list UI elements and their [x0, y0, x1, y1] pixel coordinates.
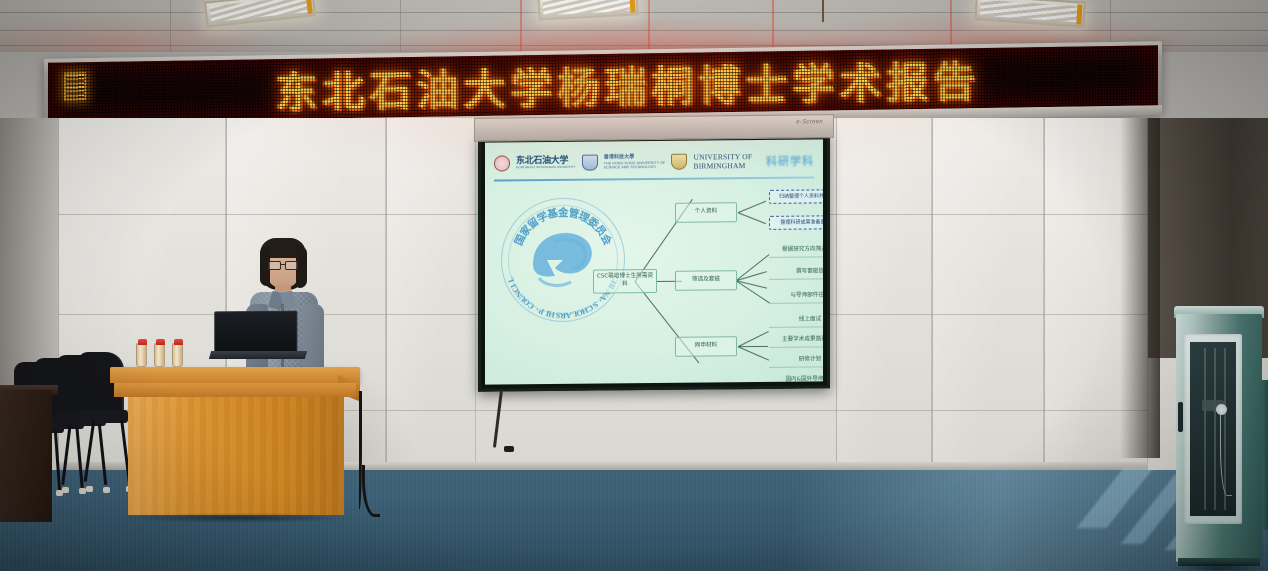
csc-arc-text-en: CHINA·SCHOLARSHIP·COUNCIL [501, 197, 625, 322]
cabinet-right-edge [1262, 380, 1268, 530]
csc-arc-char-en: R [560, 311, 566, 320]
hkust-logo-sub-2: SCIENCE AND TECHNOLOGY [604, 165, 666, 170]
laptop-keyboard-base[interactable] [209, 351, 307, 359]
cabinet-door-handle[interactable] [1178, 402, 1183, 432]
podium-body [128, 397, 344, 515]
mindmap-leaf-node: 与导师邮件往来 [769, 289, 823, 304]
podium-top-surface [110, 367, 360, 383]
northeast-petroleum-university-crest-icon [494, 155, 510, 171]
side-table [0, 390, 52, 522]
mindmap-leaf-node: 归纳整理个人资料并制作CV [769, 189, 823, 204]
ceiling-light-fixture [204, 0, 316, 28]
csc-arc-char-en: A [565, 310, 572, 320]
mindmap-branch-node: 网申材料 [675, 336, 737, 357]
screen-cable-plug [504, 446, 514, 452]
mindmap-branch-node: 筛选及套磁 [675, 270, 737, 291]
lecture-hall-photo: 东北石油大学杨瑞桐博士学术报告 e-Screen 东北石油大学 NORTHEAS… [0, 0, 1268, 571]
mindmap-branch-node: 个人资料 [675, 202, 737, 223]
birmingham-coat-of-arms-icon [671, 154, 687, 170]
projected-slide: 东北石油大学 NORTHEAST PETROLEUM UNIVERSITY 香港… [485, 139, 823, 384]
birmingham-logo-line2: BIRMINGHAM [693, 161, 752, 171]
mindmap-leaf-node: 撰写套磁信 [769, 265, 823, 280]
mindmap-leaf-node: 研修计划 [769, 353, 823, 368]
mindmap-leaf-node: 主要学术成果简要介绍 [769, 333, 823, 348]
ceiling-light-fixture [974, 0, 1086, 28]
csc-arc-char-en: S [555, 310, 561, 319]
ceiling-hanging-wire [822, 0, 824, 22]
hkust-shield-icon [582, 155, 598, 171]
wall-corner-shadow [1120, 118, 1160, 458]
mindmap-leaf-node: 线上面试 [769, 313, 823, 328]
laptop-screen[interactable] [214, 311, 297, 354]
glasses-left-lens-icon [268, 261, 281, 270]
cabinet-inner-wire [1220, 414, 1232, 496]
slide-header: 东北石油大学 NORTHEAST PETROLEUM UNIVERSITY 香港… [494, 145, 814, 178]
mindmap-root-node: CSC联培博士生所需资料 [593, 269, 657, 294]
water-bottle[interactable] [154, 343, 165, 367]
podium-floor-shadow [124, 513, 352, 523]
podium-front-lip [114, 383, 356, 397]
mindmap-leaf-node: 国内&国外导师签字 [769, 373, 823, 385]
water-bottle[interactable] [172, 343, 183, 367]
glasses-right-lens-icon [285, 261, 298, 270]
projection-screen: 东北石油大学 NORTHEAST PETROLEUM UNIVERSITY 香港… [478, 132, 830, 391]
water-bottle[interactable] [136, 343, 147, 367]
ceiling-light-fixture [537, 0, 638, 21]
cabinet-glass-window [1190, 342, 1236, 516]
screen-brand-label: e-Screen [796, 119, 823, 125]
cabinet-floor-shadow [1172, 562, 1268, 571]
cabinet-door-frame[interactable] [1184, 334, 1242, 524]
slide-watermark: 科研学科 [766, 152, 814, 168]
projection-screen-housing: e-Screen [474, 114, 834, 142]
led-block-glyph-icon [64, 72, 86, 100]
glasses-bridge [281, 264, 286, 265]
nepu-logo-sub: NORTHEAST PETROLEUM UNIVERSITY [516, 165, 576, 169]
mindmap-leaf-node: 根据研究方向筛选导师 [769, 243, 823, 258]
mindmap-leaf-node: 整理科研成果准备面试PPT [769, 215, 823, 230]
china-scholarship-council-logo: 国家留学基金管理委员会 CHINA·SCHOLARSHIP·COUNCIL [501, 197, 625, 322]
